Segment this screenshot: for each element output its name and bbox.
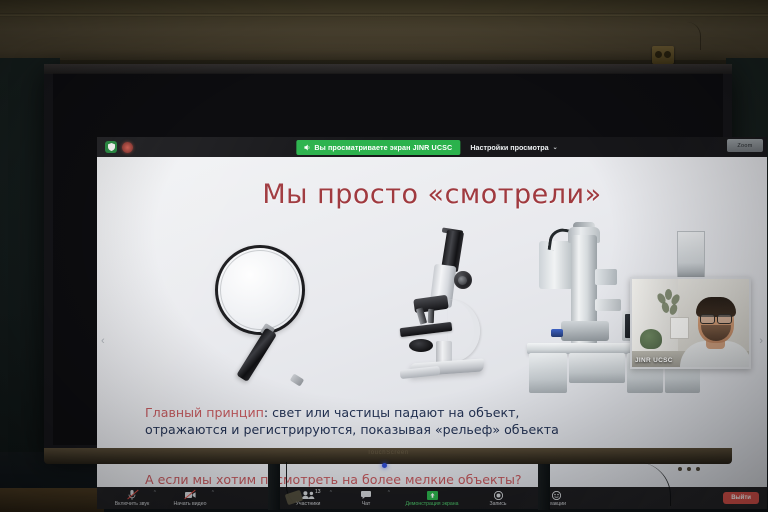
microscope-fine-knob — [458, 276, 467, 285]
em-specimen-stage — [561, 321, 609, 341]
em-detector-lower — [595, 299, 621, 311]
toolbar-label-unmute: Включить звук — [115, 501, 150, 507]
chevron-up-icon[interactable]: ⌃ — [329, 490, 333, 496]
toolbar-left-group: Включить звук ⌃ Начать видео ⌃ — [97, 489, 219, 507]
em-cabinet-2 — [569, 353, 625, 383]
em-cabinet-1 — [529, 353, 567, 393]
sharing-notice-text: Вы просматриваете экран JINR UCSC — [314, 143, 452, 152]
display-stand-leg-left — [268, 464, 280, 510]
window-chip[interactable]: Zoom — [727, 139, 763, 152]
toolbar-label-chat: Чат — [362, 501, 371, 507]
green-shield-icon[interactable] — [105, 141, 117, 153]
next-slide-arrow-icon[interactable]: › — [759, 335, 763, 347]
webcam-participant-name: JINR UCSC — [635, 357, 673, 364]
screen-share-notice: Вы просматриваете экран JINR UCSC — [296, 140, 460, 155]
magnifier-lens — [215, 245, 305, 335]
chevron-up-icon[interactable]: ⌃ — [211, 490, 215, 496]
topbar-center: Вы просматриваете экран JINR UCSC Настро… — [296, 140, 567, 155]
toolbar-item-record[interactable]: Запись — [469, 489, 527, 507]
chat-icon — [361, 490, 371, 500]
toolbar-item-share-screen[interactable]: Демонстрация экрана — [395, 489, 469, 507]
chevron-down-icon: ⌄ — [553, 144, 558, 151]
display-power-led — [382, 463, 387, 468]
participant-glasses-icon — [700, 314, 732, 322]
display-ports — [678, 458, 712, 462]
microscope-objective-2 — [428, 309, 434, 323]
chevron-up-icon[interactable]: ⌃ — [153, 490, 157, 496]
microscope-arm — [448, 299, 480, 363]
toolbar-item-unmute[interactable]: Включить звук ⌃ — [103, 489, 161, 507]
slide-title: Мы просто «смотрели» — [97, 179, 767, 210]
wall-trim — [0, 13, 768, 17]
slide-body-line2: отражаются и регистрируются, показывая «… — [145, 422, 559, 437]
toolbar-label-record: Запись — [489, 501, 506, 507]
toolbar-item-reactions[interactable]: Реакции — [527, 489, 585, 507]
topbar-right: Zoom — [727, 139, 763, 152]
reactions-icon — [552, 490, 561, 500]
microscope-mirror — [409, 339, 433, 352]
webcam-participant — [684, 295, 746, 367]
magnifying-glass-image — [205, 237, 335, 372]
display-brand-label: TouchScreen — [44, 450, 732, 456]
share-screen-icon — [427, 490, 438, 500]
slide-body-highlight: Главный принцип — [145, 405, 264, 420]
topbar-left-icons — [97, 141, 285, 153]
decor-potted-plant-icon — [640, 329, 662, 349]
webcam-thumbnail[interactable]: JINR UCSC — [630, 277, 751, 369]
slide-body-text: Главный принцип: свет или частицы падают… — [145, 404, 725, 438]
view-settings-button[interactable]: Настройки просмотра ⌄ — [460, 143, 567, 152]
slide-body-line1: : свет или частицы падают на объект, — [264, 405, 520, 420]
bezel-sheen — [44, 64, 732, 74]
desk-corner — [0, 488, 104, 512]
view-settings-label: Настройки просмотра — [470, 143, 548, 152]
speaker-icon — [304, 144, 310, 151]
magnifier-handle — [236, 328, 277, 382]
prev-slide-arrow-icon[interactable]: ‹ — [101, 335, 105, 347]
zoom-top-bar: Вы просматриваете экран JINR UCSC Настро… — [97, 137, 767, 157]
toolbar-item-start-video[interactable]: Начать видео ⌃ — [161, 489, 219, 507]
leave-meeting-button[interactable]: Выйти — [723, 492, 759, 504]
microscope-foot — [400, 366, 441, 379]
microphone-muted-icon — [128, 490, 136, 500]
wall-mounted-display: Вы просматриваете экран JINR UCSC Настро… — [44, 64, 732, 454]
display-stand-leg-right — [538, 464, 550, 510]
chevron-up-icon[interactable]: ⌃ — [387, 490, 391, 496]
recording-indicator-icon[interactable] — [122, 142, 133, 153]
toolbar-label-start-video: Начать видео — [174, 501, 207, 507]
presentation-slide: Мы просто «смотрели» — [97, 157, 767, 487]
microscope-stage — [400, 322, 453, 337]
record-icon — [494, 490, 503, 500]
photo-of-classroom-display: Вы просматриваете экран JINR UCSC Настро… — [0, 0, 768, 512]
toolbar-item-chat[interactable]: Чат ⌃ — [337, 489, 395, 507]
power-outlet-icon — [652, 46, 674, 64]
optical-microscope-image — [392, 229, 502, 389]
magnifier-tip — [290, 373, 304, 386]
em-detector-upper — [595, 269, 617, 285]
em-blue-control — [551, 329, 563, 337]
slide-images-row: JINR UCSC — [97, 225, 767, 395]
toolbar-label-share-screen: Демонстрация экрана — [405, 501, 458, 507]
camera-off-icon — [185, 490, 196, 500]
wall-cable — [672, 22, 701, 50]
